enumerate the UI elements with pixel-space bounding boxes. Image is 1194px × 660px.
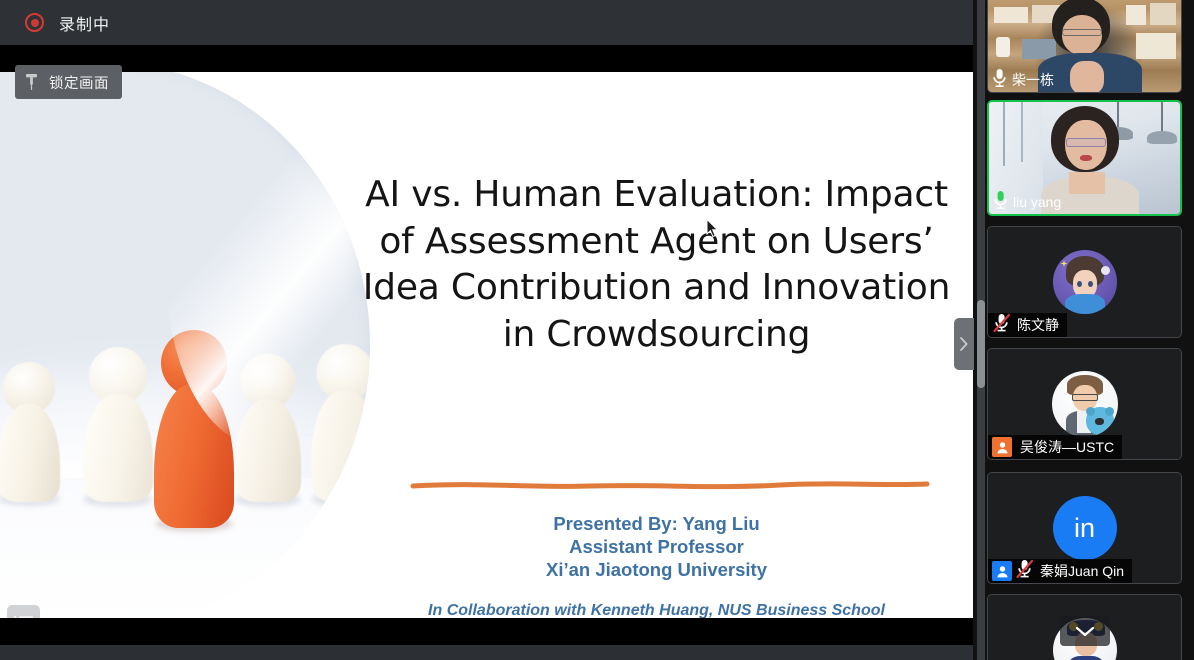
participant-name-chip: 陈文静 <box>988 313 1067 337</box>
recording-label: 录制中 <box>59 11 110 35</box>
mic-muted-icon <box>1015 559 1035 584</box>
slide-divider-rule <box>410 478 930 492</box>
shared-screen-stage: 录制中 <box>0 0 973 660</box>
participant-tile[interactable]: 吴俊涛—USTC <box>987 348 1182 460</box>
presentation-slide: AI vs. Human Evaluation: Impact of Asses… <box>0 72 973 618</box>
mic-muted-icon <box>992 313 1012 338</box>
participant-strip-scroll-thumb[interactable] <box>977 300 985 388</box>
scroll-down-button[interactable] <box>1060 616 1110 646</box>
slide-title: AI vs. Human Evaluation: Impact of Asses… <box>350 172 963 358</box>
slide-text-column: AI vs. Human Evaluation: Impact of Asses… <box>340 72 973 618</box>
participant-name: 柴一栋 <box>1012 70 1054 90</box>
participant-name: 秦娟Juan Qin <box>1040 561 1124 581</box>
participant-name: 陈文静 <box>1017 315 1059 335</box>
peg-figure <box>78 347 158 502</box>
host-badge-icon <box>992 561 1012 581</box>
zoom-meeting-window: 录制中 <box>0 0 1194 660</box>
presenter-affiliation-line: Xi’an Jiaotong University <box>350 558 963 581</box>
pin-icon <box>24 73 39 91</box>
slide-photo-wooden-figures <box>0 72 370 618</box>
avatar-initials: in <box>1053 496 1117 560</box>
presenter-title-line: Assistant Professor <box>350 535 963 558</box>
avatar <box>1053 250 1117 314</box>
peg-figure <box>0 362 64 502</box>
participant-tile[interactable]: 陈文静 <box>987 226 1182 338</box>
mic-muted-icon-glyph <box>1015 559 1035 579</box>
participant-name: liu yang <box>1013 194 1061 210</box>
chevron-right-icon <box>959 336 969 352</box>
mic-muted-icon-glyph <box>992 313 1012 333</box>
participant-name-chip: 吴俊涛—USTC <box>988 435 1122 459</box>
stage-bottom-bar <box>0 645 973 660</box>
participant-tile[interactable]: 柴一栋 <box>987 0 1182 93</box>
participant-name: 吴俊涛—USTC <box>1020 437 1114 457</box>
mic-on-icon-glyph <box>992 68 1007 88</box>
participant-tile[interactable]: in 秦娟Juan Qin <box>987 472 1182 584</box>
pin-icon-glyph <box>24 73 39 91</box>
list-icon[interactable] <box>7 605 40 618</box>
recording-status-bar: 录制中 <box>0 0 973 45</box>
avatar <box>1052 371 1118 437</box>
host-badge-icon <box>992 437 1012 457</box>
mic-on-icon <box>993 190 1008 215</box>
letterbox-bottom <box>0 618 973 645</box>
participant-name-chip: 秦娟Juan Qin <box>988 559 1132 583</box>
participant-name-chip: liu yang <box>989 190 1069 214</box>
mic-on-active-icon-glyph <box>993 190 1008 210</box>
collapse-panel-button[interactable] <box>954 318 974 370</box>
participant-tile-active-speaker[interactable]: liu yang <box>987 100 1182 216</box>
avatar-initials-text: in <box>1053 496 1117 560</box>
slide-presenter-block: Presented By: Yang Liu Assistant Profess… <box>350 512 963 581</box>
slide-collaboration-line: In Collaboration with Kenneth Huang, NUS… <box>350 602 963 618</box>
presenter-name-line: Presented By: Yang Liu <box>350 512 963 535</box>
person-icon <box>996 441 1009 454</box>
participant-name-chip: 柴一栋 <box>988 68 1062 92</box>
person-icon <box>996 565 1009 578</box>
lock-screen-label: 锁定画面 <box>49 72 109 93</box>
letterbox-top <box>0 45 973 72</box>
mic-on-icon <box>992 68 1007 93</box>
lock-screen-button[interactable]: 锁定画面 <box>15 65 122 99</box>
mouse-cursor <box>706 219 719 238</box>
chevron-down-icon <box>1074 625 1096 638</box>
record-dot-icon <box>25 13 44 32</box>
